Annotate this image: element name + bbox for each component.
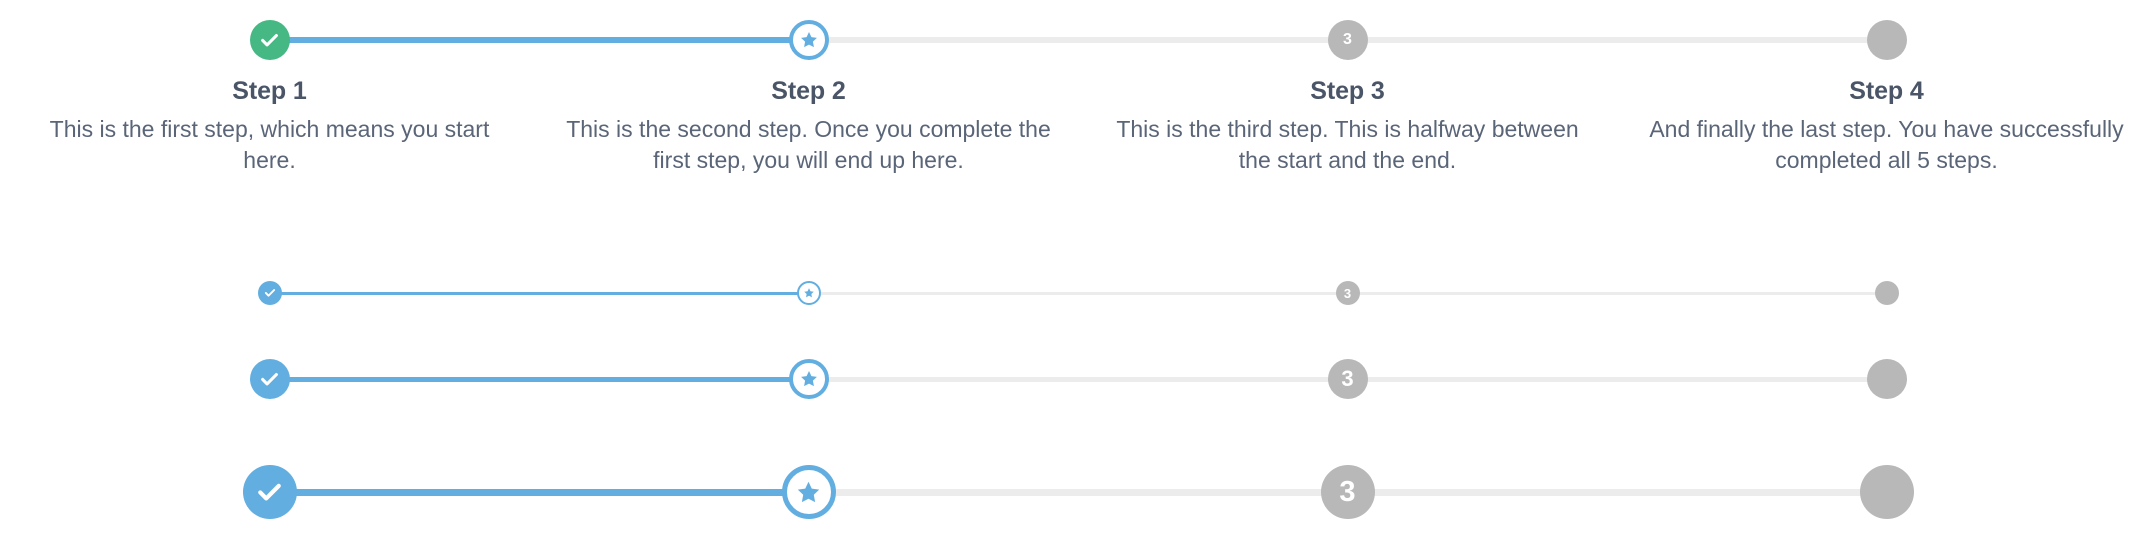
step-item-1[interactable] [0, 465, 539, 519]
step-node-1[interactable] [258, 281, 282, 305]
check-icon [254, 477, 285, 508]
step-label-group-3: Step 3This is the third step. This is ha… [1078, 77, 1617, 176]
step-description: This is the second step. Once you comple… [561, 114, 1056, 176]
large-stepper: 3 [0, 465, 2156, 519]
step-node-2[interactable] [789, 20, 829, 60]
step-number-label: 3 [1339, 478, 1355, 507]
step-label-group-2: Step 2This is the second step. Once you … [539, 77, 1078, 176]
check-icon [258, 368, 281, 391]
step-node-4[interactable] [1875, 281, 1899, 305]
step-item-2[interactable] [539, 465, 1078, 519]
star-icon [795, 479, 822, 506]
step-node-1[interactable] [250, 20, 290, 60]
step-description: This is the third step. This is halfway … [1100, 114, 1595, 176]
step-number-label: 3 [1344, 287, 1351, 300]
step-number-label: 3 [1343, 32, 1352, 48]
step-description: This is the first step, which means you … [22, 114, 517, 176]
step-item-3[interactable]: 3 [1078, 359, 1617, 399]
step-node-4[interactable] [1867, 20, 1907, 60]
step-node-2[interactable] [782, 465, 836, 519]
check-icon [263, 286, 277, 300]
star-icon [799, 369, 819, 389]
step-node-4[interactable] [1860, 465, 1914, 519]
step-description: And finally the last step. You have succ… [1639, 114, 2134, 176]
step-node-3[interactable]: 3 [1328, 359, 1368, 399]
step-item-2[interactable] [539, 359, 1078, 399]
step-item-4[interactable] [1617, 465, 2156, 519]
step-node-4[interactable] [1867, 359, 1907, 399]
step-title: Step 1 [22, 77, 517, 106]
step-title: Step 2 [561, 77, 1056, 106]
stepper-demo-page: { "colors": { "complete_green": "#45b883… [0, 0, 2156, 560]
step-item-3[interactable]: 3Step 3This is the third step. This is h… [1078, 20, 1617, 176]
step-node-3[interactable]: 3 [1328, 20, 1368, 60]
step-item-3[interactable]: 3 [1078, 281, 1617, 305]
step-label-group-1: Step 1This is the first step, which mean… [0, 77, 539, 176]
step-label-group-4: Step 4And finally the last step. You hav… [1617, 77, 2156, 176]
step-item-3[interactable]: 3 [1078, 465, 1617, 519]
star-icon [803, 287, 815, 299]
step-number-label: 3 [1341, 368, 1353, 390]
small-stepper: 3 [0, 281, 2156, 305]
step-item-4[interactable]: Step 4And finally the last step. You hav… [1617, 20, 2156, 176]
medium-stepper: 3 [0, 359, 2156, 399]
step-node-3[interactable]: 3 [1336, 281, 1360, 305]
step-item-1[interactable] [0, 359, 539, 399]
step-item-2[interactable]: Step 2This is the second step. Once you … [539, 20, 1078, 176]
step-node-1[interactable] [250, 359, 290, 399]
step-item-2[interactable] [539, 281, 1078, 305]
star-icon [799, 30, 819, 50]
check-icon [258, 29, 281, 52]
step-item-1[interactable]: Step 1This is the first step, which mean… [0, 20, 539, 176]
step-node-2[interactable] [797, 281, 821, 305]
step-node-1[interactable] [243, 465, 297, 519]
labelled-stepper: Step 1This is the first step, which mean… [0, 20, 2156, 176]
step-title: Step 3 [1100, 77, 1595, 106]
step-node-3[interactable]: 3 [1321, 465, 1375, 519]
step-node-2[interactable] [789, 359, 829, 399]
step-item-1[interactable] [0, 281, 539, 305]
step-title: Step 4 [1639, 77, 2134, 106]
step-item-4[interactable] [1617, 281, 2156, 305]
step-item-4[interactable] [1617, 359, 2156, 399]
